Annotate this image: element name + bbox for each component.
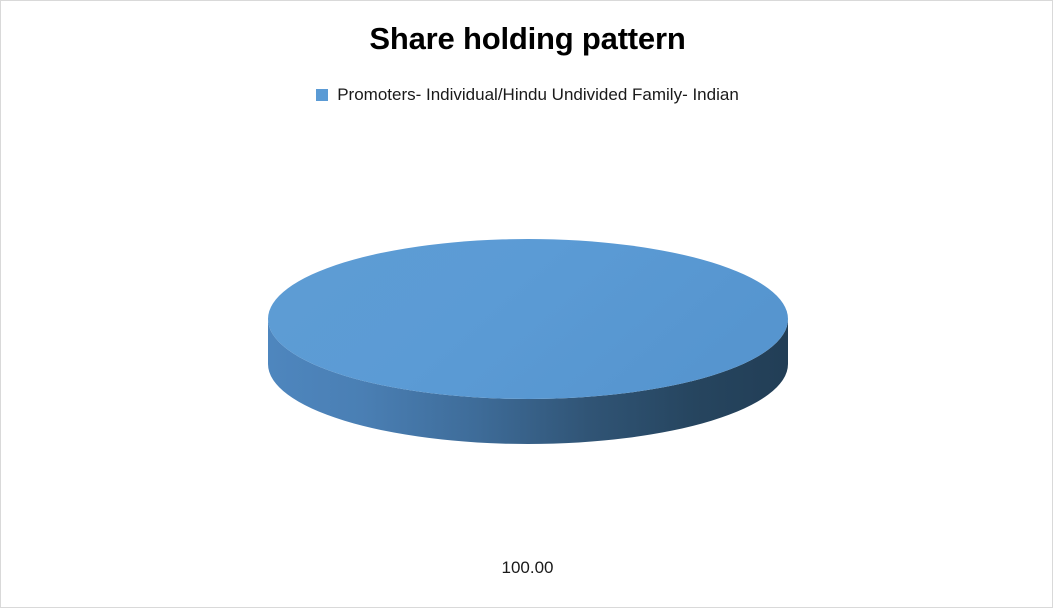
pie-data-label: 100.00 [1, 558, 1053, 578]
chart-container: Share holding pattern Promoters- Individ… [0, 0, 1053, 608]
legend-color-swatch-icon [316, 89, 328, 101]
chart-legend: Promoters- Individual/Hindu Undivided Fa… [1, 86, 1053, 104]
pie-slice-side-wall [268, 319, 788, 444]
chart-title: Share holding pattern [1, 19, 1053, 59]
pie-slice-promoters[interactable] [268, 239, 788, 399]
legend-item-label: Promoters- Individual/Hindu Undivided Fa… [337, 86, 739, 104]
legend-item-promoters[interactable]: Promoters- Individual/Hindu Undivided Fa… [316, 86, 739, 104]
